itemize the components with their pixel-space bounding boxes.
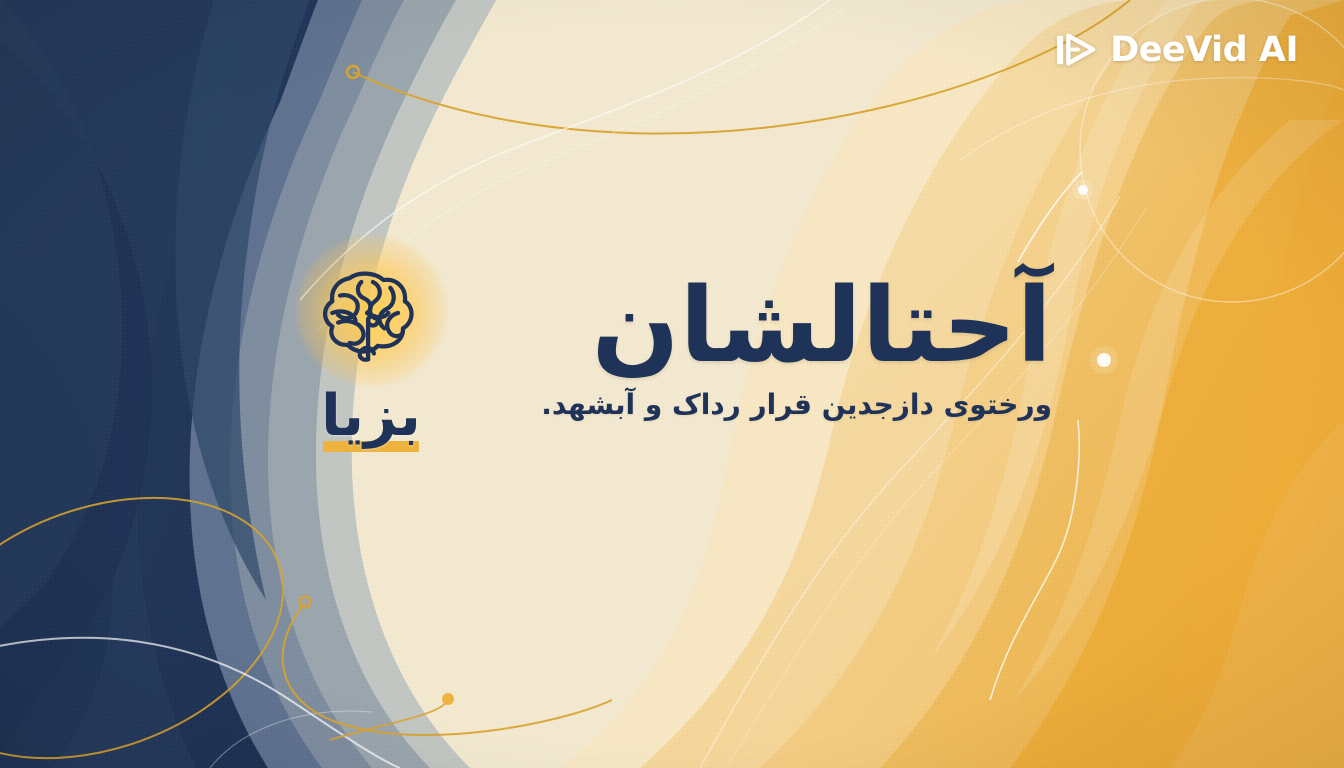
headline-subtitle: ورختوی دازجدین قرار رداک و آبشهد. xyxy=(512,387,1052,422)
deevid-logo: DeeVid AI xyxy=(1055,30,1298,70)
brain-icon xyxy=(313,253,429,369)
play-triangle-icon xyxy=(1055,30,1097,70)
brand-lockup: بزیا xyxy=(276,236,466,452)
promotional-banner: بزیا آحتالشان ورختوی دازجدین قرار رداک و… xyxy=(0,0,1344,768)
headline-title: آحتالشان xyxy=(512,276,1052,377)
brain-logo xyxy=(296,236,446,386)
logo-text: DeeVid AI xyxy=(1110,30,1298,70)
headline-block: آحتالشان ورختوی دازجدین قرار رداک و آبشه… xyxy=(512,276,1052,422)
brand-name: بزیا xyxy=(321,388,421,445)
